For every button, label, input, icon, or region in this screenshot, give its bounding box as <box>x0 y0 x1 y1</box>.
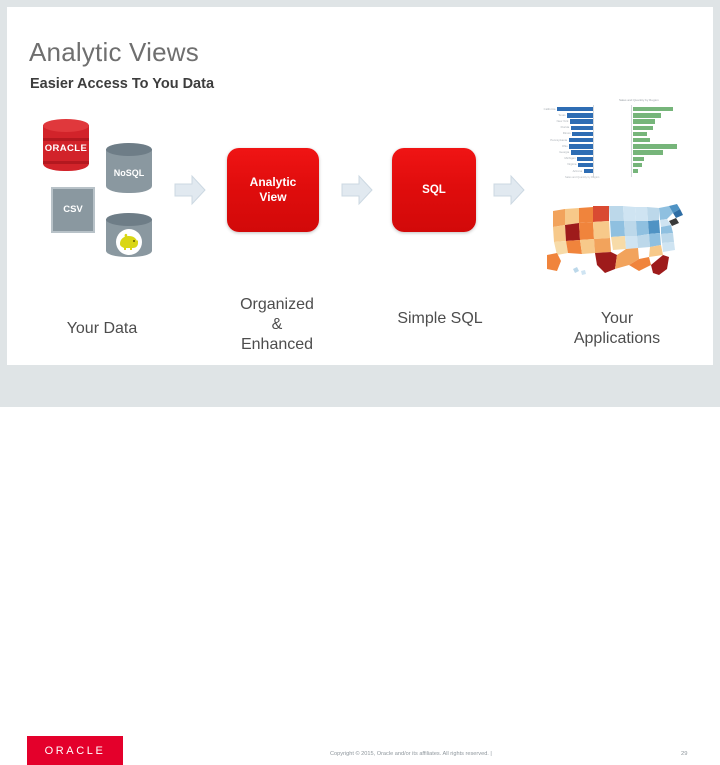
bar-category-label: Texas <box>558 113 565 117</box>
bar-category-label: Florida <box>561 125 570 129</box>
caption-organized-line3: Enhanced <box>197 335 357 355</box>
sql-label: SQL <box>422 183 446 198</box>
bar-quantity <box>633 113 661 117</box>
caption-your-applications: Your Applications <box>532 309 702 349</box>
bar-fill <box>633 138 650 142</box>
analytic-view-box[interactable]: Analytic View <box>227 148 319 232</box>
bar-category-label: Arizona <box>573 169 582 173</box>
bar-fill <box>578 163 593 167</box>
bar-quantity <box>633 132 647 136</box>
analytic-view-label: Analytic View <box>250 175 297 205</box>
bar-quantity <box>633 169 638 173</box>
analytic-view-label-line2: View <box>259 190 286 204</box>
chart-title: Sales and Quantity by Region <box>619 98 659 102</box>
bar-fill <box>633 150 663 154</box>
bar-category-label: California <box>544 107 556 111</box>
bar-quantity <box>633 119 655 123</box>
bar-fill <box>567 113 593 117</box>
bar-quantity <box>633 157 644 161</box>
applications-us-map <box>535 193 695 279</box>
bar-sales: California <box>557 107 593 111</box>
bar-sales: Michigan <box>577 157 593 161</box>
analytic-view-label-line1: Analytic <box>250 175 297 189</box>
bar-fill <box>557 107 593 111</box>
slide-frame: Analytic Views Easier Access To You Data… <box>0 0 720 407</box>
bar-fill <box>572 132 593 136</box>
bar-category-label: Georgia <box>559 150 569 154</box>
caption-organized-line2: & <box>197 315 357 335</box>
caption-your-data: Your Data <box>27 319 177 339</box>
source-oracle-database: ORACLE <box>43 119 89 177</box>
caption-organized-line1: Organized <box>197 295 357 315</box>
bar-fill <box>633 144 677 148</box>
slide-footer: ORACLE Copyright © 2015, Oracle and/or i… <box>0 365 720 407</box>
bar-category-label: Illinois <box>563 131 571 135</box>
arrow-right-icon <box>493 173 525 207</box>
bar-category-label: Pennsylvania <box>550 138 567 142</box>
applications-bar-chart: Sales and Quantity by Region CaliforniaT… <box>547 97 687 179</box>
bar-fill <box>584 169 593 173</box>
bar-sales: Virginia <box>578 163 593 167</box>
bar-sales: Pennsylvania <box>569 138 593 142</box>
cylinder-top <box>43 119 89 132</box>
source-csv-file: CSV <box>51 187 95 233</box>
hadoop-elephant-icon <box>116 229 142 255</box>
cylinder-top <box>106 213 152 226</box>
bar-fill <box>633 163 642 167</box>
bar-fill <box>633 169 638 173</box>
bar-fill <box>633 113 661 117</box>
bar-quantity <box>633 150 663 154</box>
bar-fill <box>633 126 653 130</box>
caption-simple-sql: Simple SQL <box>365 309 515 329</box>
slide-title: Analytic Views <box>29 37 199 68</box>
bar-fill <box>633 132 647 136</box>
bar-fill <box>633 119 655 123</box>
bar-sales: Illinois <box>572 132 593 136</box>
chart-axis-blue <box>593 105 594 177</box>
bar-fill <box>569 144 593 148</box>
cylinder-top <box>106 143 152 156</box>
caption-organized-enhanced: Organized & Enhanced <box>197 295 357 355</box>
bar-quantity <box>633 163 642 167</box>
caption-your-apps-line2: Applications <box>532 329 702 349</box>
source-oracle-label: ORACLE <box>43 143 89 154</box>
bar-sales: Texas <box>567 113 593 117</box>
chart-axis-green <box>631 105 632 177</box>
bar-sales: New York <box>570 119 593 123</box>
bar-category-label: Michigan <box>564 156 575 160</box>
bar-quantity <box>633 144 677 148</box>
footer-copyright: Copyright © 2015, Oracle and/or its affi… <box>330 751 492 757</box>
bar-sales: Arizona <box>584 169 593 173</box>
bar-sales: Ohio <box>569 144 593 148</box>
footer-page-number: 29 <box>681 751 687 757</box>
source-hadoop-database <box>106 213 152 263</box>
slide-subtitle: Easier Access To You Data <box>30 76 214 92</box>
bar-sales: Georgia <box>571 150 593 154</box>
caption-your-apps-line1: Your <box>532 309 702 329</box>
bar-quantity <box>633 138 650 142</box>
source-nosql-database: NoSQL <box>106 143 152 199</box>
arrow-right-icon <box>174 173 206 207</box>
bar-quantity <box>633 126 653 130</box>
bar-sales: Florida <box>571 126 593 130</box>
bar-fill <box>633 157 644 161</box>
sql-box[interactable]: SQL <box>392 148 476 232</box>
bar-fill <box>569 138 593 142</box>
chart-footnote: Sales and Quantity by Region <box>565 176 599 179</box>
barrel-band <box>43 138 89 141</box>
bar-category-label: New York <box>557 119 569 123</box>
bar-category-label: Ohio <box>562 144 568 148</box>
bar-fill <box>577 157 593 161</box>
arrow-right-icon <box>341 173 373 207</box>
bar-fill <box>633 107 673 111</box>
barrel-band <box>43 161 89 164</box>
bar-category-label: Virginia <box>567 162 576 166</box>
oracle-logo: ORACLE <box>27 736 123 765</box>
source-csv-label: CSV <box>53 204 93 215</box>
bar-quantity <box>633 107 673 111</box>
oracle-logo-text: ORACLE <box>45 745 106 757</box>
slide-canvas: Analytic Views Easier Access To You Data… <box>7 7 713 365</box>
bar-fill <box>570 119 593 123</box>
bar-fill <box>571 126 593 130</box>
source-nosql-label: NoSQL <box>106 168 152 178</box>
bar-fill <box>571 150 593 154</box>
